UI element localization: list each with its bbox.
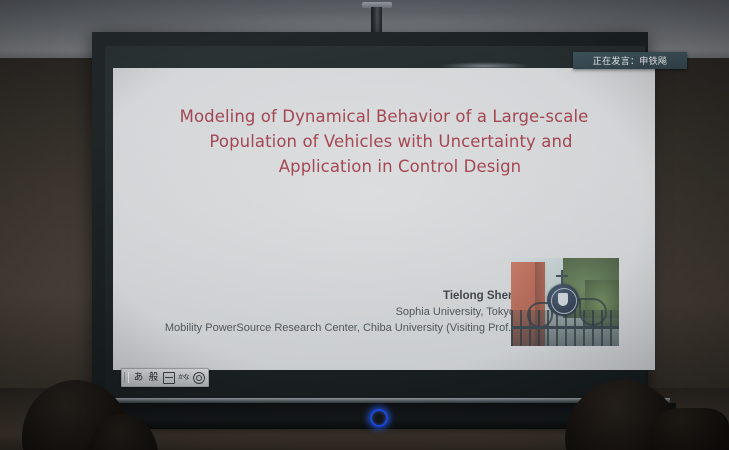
projected-slide: Modeling of Dynamical Behavior of a Larg… xyxy=(113,68,655,370)
ime-kana-help-icon[interactable]: かな xyxy=(176,370,191,385)
author-block: Tielong Shen Sophia University, Tokyo Mo… xyxy=(123,288,515,336)
projection-scene: Modeling of Dynamical Behavior of a Larg… xyxy=(0,0,729,450)
power-indicator-led xyxy=(370,409,388,427)
ime-tools-gear-icon[interactable] xyxy=(191,370,206,385)
ime-pad-icon[interactable] xyxy=(161,370,176,385)
ime-conversion-mode-icon[interactable]: 般 xyxy=(146,370,161,385)
audience-shoulder-right xyxy=(649,408,729,450)
title-line-1: Modeling of Dynamical Behavior of a Larg… xyxy=(139,104,629,129)
speaker-status-label: 正在发言：申铁飚 xyxy=(593,54,667,67)
photo-fence-rail xyxy=(511,326,619,329)
author-name: Tielong Shen xyxy=(123,288,515,304)
ime-gear-glyph xyxy=(193,372,205,384)
university-gate-photo xyxy=(511,258,619,346)
author-affiliation-secondary: Mobility PowerSource Research Center, Ch… xyxy=(123,320,515,336)
photo-gate-finial xyxy=(561,270,563,284)
title-line-3: Application in Control Design xyxy=(139,154,629,179)
author-affiliation-primary: Sophia University, Tokyo xyxy=(123,304,515,320)
photo-crest-shield xyxy=(558,293,568,306)
ime-input-mode-hiragana-icon[interactable]: あ xyxy=(131,370,146,385)
speaker-status-banner: 正在发言：申铁飚 xyxy=(573,52,687,69)
title-line-2: Population of Vehicles with Uncertainty … xyxy=(139,129,629,154)
japanese-ime-toolbar[interactable]: あ 般 かな xyxy=(121,368,209,387)
photo-gate-finial-cross xyxy=(556,275,568,277)
ime-pad-glyph xyxy=(163,372,175,384)
slide-title: Modeling of Dynamical Behavior of a Larg… xyxy=(139,104,629,179)
ime-drag-grip[interactable] xyxy=(124,372,129,383)
